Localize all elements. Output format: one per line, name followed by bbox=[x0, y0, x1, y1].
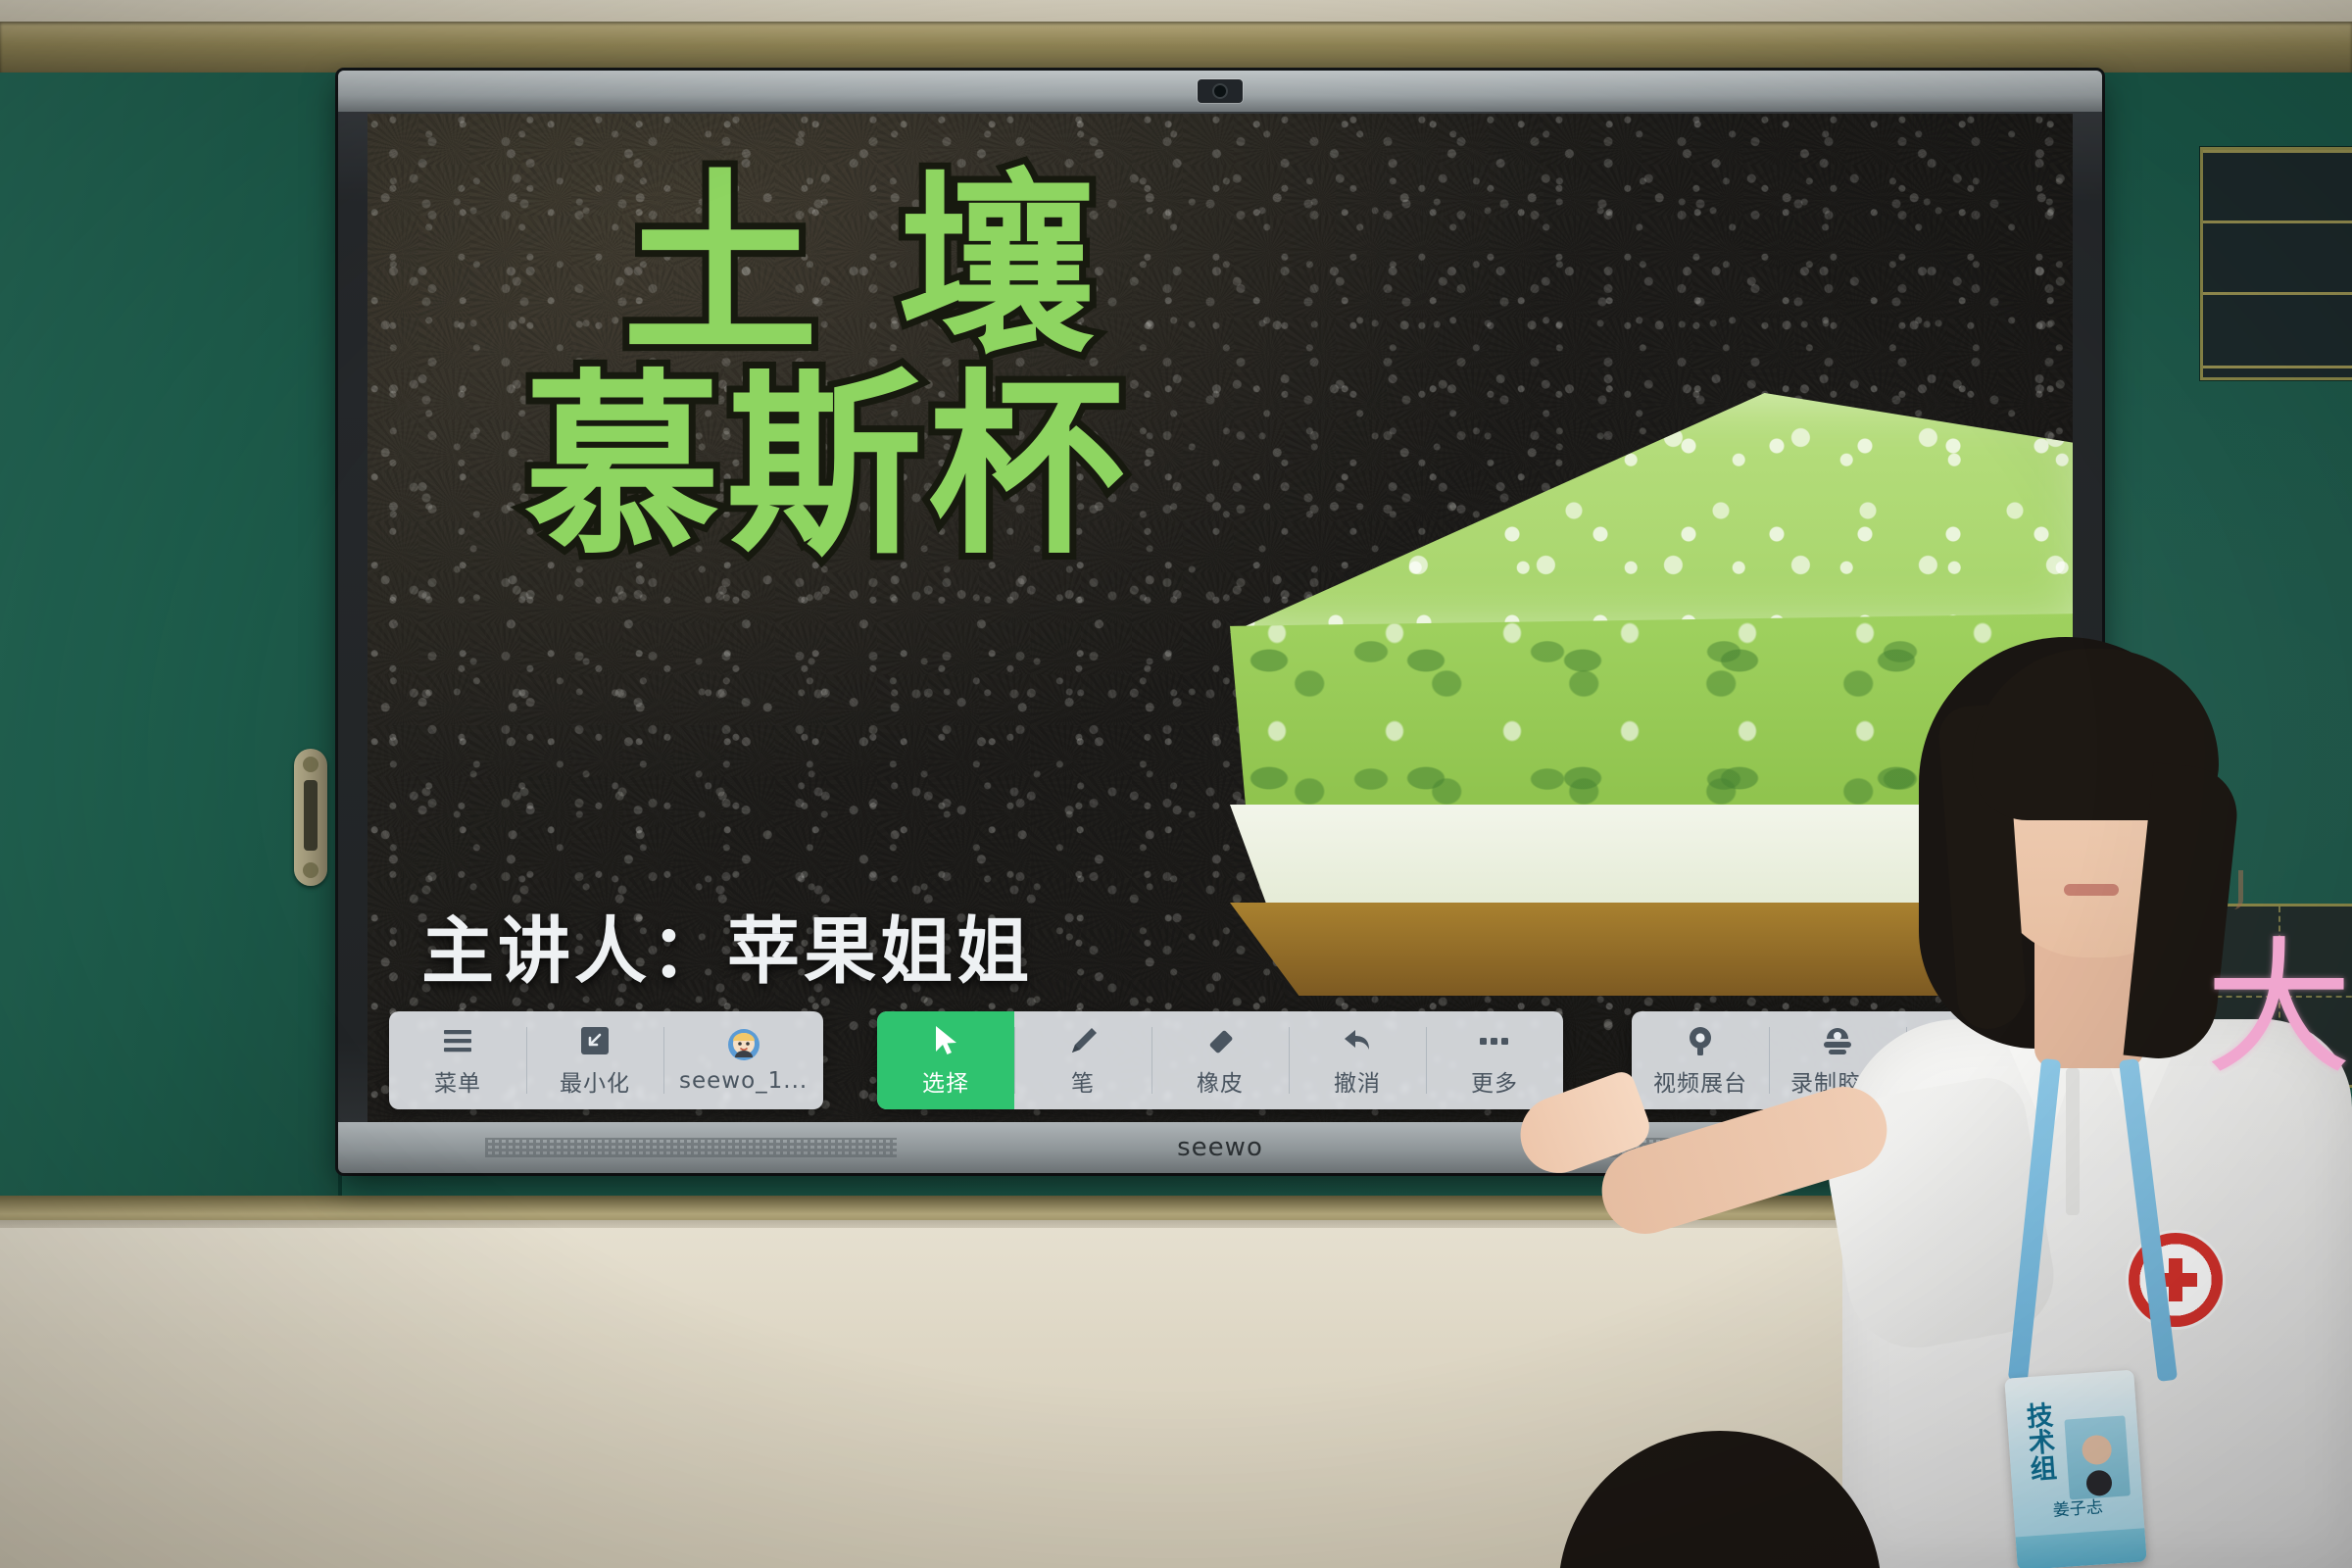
display-screen[interactable]: 土 壤 慕斯杯 主讲人：苹果姐姐 菜单 bbox=[367, 114, 2073, 1123]
display-top-bezel bbox=[338, 71, 2102, 112]
panel-handle-bracket[interactable] bbox=[294, 749, 327, 886]
badge-photo bbox=[2064, 1415, 2131, 1499]
badge-footer bbox=[2016, 1528, 2147, 1568]
app-avatar-icon bbox=[727, 1027, 760, 1062]
more-button[interactable]: 更多 bbox=[1426, 1011, 1563, 1109]
slide-title-line2: 慕斯杯 bbox=[514, 367, 1494, 567]
toolbar-center-group[interactable]: 选择 笔 bbox=[877, 1011, 1563, 1109]
undo-button[interactable]: 撤消 bbox=[1289, 1011, 1426, 1109]
blackboard-top-frame bbox=[0, 22, 2352, 73]
badge-name: 姜子忐 bbox=[2052, 1493, 2104, 1520]
character-grid-panel: 大 大 bbox=[2193, 904, 2352, 1088]
pen-tool-label: 笔 bbox=[1071, 1064, 1095, 1098]
hamburger-menu-icon bbox=[441, 1023, 474, 1058]
document-camera-label: 视频展台 bbox=[1653, 1064, 1747, 1098]
classroom-scene: 大 大 土 壤 bbox=[0, 0, 2352, 1568]
more-button-label: 更多 bbox=[1471, 1064, 1518, 1098]
select-tool-label: 选择 bbox=[922, 1064, 969, 1098]
chalk-character: 大 bbox=[2196, 906, 2352, 1085]
interactive-flat-panel[interactable]: 土 壤 慕斯杯 主讲人：苹果姐姐 菜单 bbox=[338, 71, 2102, 1173]
seewo-app-task-button[interactable]: seewo_1... bbox=[663, 1011, 823, 1109]
document-camera-icon bbox=[1684, 1023, 1717, 1058]
sliding-board-panel-left[interactable] bbox=[0, 73, 342, 1200]
slide-title: 土 壤 慕斯杯 bbox=[514, 168, 1494, 567]
eraser-tool-button[interactable]: 橡皮 bbox=[1151, 1011, 1289, 1109]
minimize-button[interactable]: 最小化 bbox=[526, 1011, 663, 1109]
undo-arrow-icon bbox=[1341, 1023, 1374, 1058]
id-badge: 技术组 姜子忐 bbox=[2004, 1370, 2146, 1568]
document-camera-button[interactable]: 视频展台 bbox=[1632, 1011, 1769, 1109]
slide-subtitle: 主讲人：苹果姐姐 bbox=[421, 893, 1033, 998]
pen-tool-button[interactable]: 笔 bbox=[1014, 1011, 1151, 1109]
pen-icon bbox=[1066, 1023, 1100, 1058]
camera-icon bbox=[1198, 79, 1243, 103]
eraser-tool-label: 橡皮 bbox=[1197, 1064, 1244, 1098]
ruled-staff-panel bbox=[2200, 147, 2352, 380]
speaker-grille-left bbox=[485, 1138, 897, 1157]
minimize-button-label: 最小化 bbox=[560, 1064, 630, 1098]
mouth bbox=[2064, 884, 2119, 896]
grid-cell: 大 bbox=[2196, 906, 2352, 1085]
seewo-brand-logo: seewo bbox=[1177, 1133, 1263, 1162]
slide-title-line1: 土 壤 bbox=[514, 168, 1494, 367]
menu-button[interactable]: 菜单 bbox=[389, 1011, 526, 1109]
badge-group-text: 技术组 bbox=[2016, 1401, 2055, 1483]
more-dots-icon bbox=[1478, 1023, 1511, 1058]
seewo-app-task-label: seewo_1... bbox=[679, 1068, 808, 1094]
eraser-icon bbox=[1203, 1023, 1237, 1058]
undo-button-label: 撤消 bbox=[1334, 1064, 1381, 1098]
cursor-arrow-icon bbox=[931, 1023, 960, 1058]
menu-button-label: 菜单 bbox=[434, 1064, 481, 1098]
toolbar-left-group[interactable]: 菜单 最小化 bbox=[389, 1011, 823, 1109]
select-tool-button[interactable]: 选择 bbox=[877, 1011, 1014, 1109]
minimize-arrow-icon bbox=[579, 1023, 611, 1058]
shirt-placket bbox=[2066, 1068, 2080, 1215]
